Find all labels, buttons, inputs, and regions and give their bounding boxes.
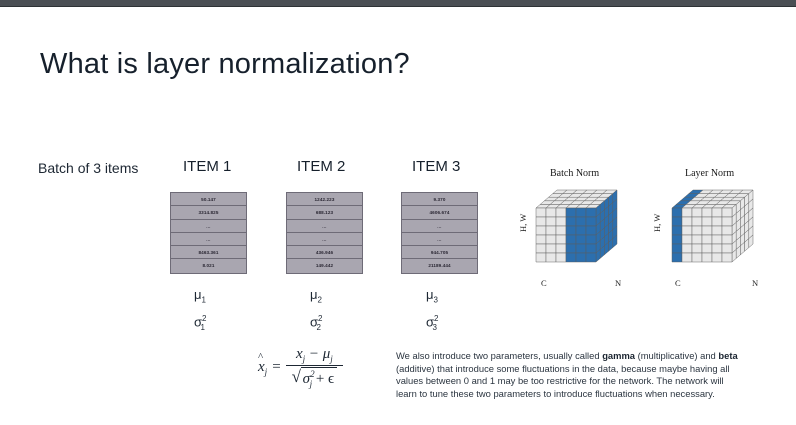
- formula-lhs: xj: [258, 359, 267, 377]
- item-cell: …: [171, 233, 246, 246]
- explanation-part-3: (additive) that introduce some fluctuati…: [396, 363, 730, 399]
- item-cell: 688.123: [287, 206, 362, 219]
- norm-comparison-diagram: Batch Norm Layer Norm H, W H, W C N C N: [512, 168, 778, 290]
- item-cell: 944.705: [402, 246, 477, 259]
- mu-symbol: μ: [310, 287, 318, 302]
- sigma-subscript: 1: [200, 323, 204, 332]
- item-cell: …: [287, 233, 362, 246]
- sigma-superscript: 2: [202, 314, 206, 323]
- mu-symbol: μ: [194, 287, 202, 302]
- explanation-bold-beta: beta: [718, 350, 737, 361]
- item-table-1: 50.147 3314.825 … … 8463.361 8.021: [170, 192, 247, 274]
- numerator-x-sub: j: [303, 354, 306, 364]
- numerator-mu-sub: j: [330, 354, 333, 364]
- formula-equals: =: [272, 359, 280, 376]
- mu-subscript: 3: [434, 296, 438, 305]
- radical-sign: √: [292, 368, 301, 385]
- item-cell: …: [402, 233, 477, 246]
- sigma-superscript: 2: [318, 314, 322, 323]
- batch-label: Batch of 3 items: [38, 160, 138, 176]
- formula-fraction: xj − μj √ σ2j + ϵ: [286, 346, 343, 390]
- explanation-bold-gamma: gamma: [602, 350, 635, 361]
- mu-subscript: 1: [202, 296, 206, 305]
- formula-denominator: √ σ2j + ϵ: [286, 366, 343, 389]
- item-cell: 8.021: [171, 259, 246, 272]
- item-cell: 21189.444: [402, 259, 477, 272]
- item-cell: 436.946: [287, 246, 362, 259]
- page-title: What is layer normalization?: [40, 48, 410, 81]
- radical-body: σ2j + ϵ: [301, 367, 337, 389]
- item-cell: 50.147: [171, 193, 246, 206]
- explanation-paragraph: We also introduce two parameters, usuall…: [396, 350, 746, 400]
- x-hat-symbol: x: [258, 359, 265, 375]
- item-header-3: ITEM 3: [412, 158, 460, 175]
- den-plus: +: [316, 371, 324, 387]
- window-top-bar: [0, 0, 796, 7]
- mu-symbol: μ: [426, 287, 434, 302]
- item-table-2: 1242.223 688.123 … … 436.946 149.442: [286, 192, 363, 274]
- item-cell: …: [402, 220, 477, 233]
- explanation-part-2: (multiplicative) and: [635, 350, 718, 361]
- item-header-1: ITEM 1: [183, 158, 231, 175]
- norm-cubes-svg: [512, 168, 778, 290]
- item-stats-3: μ3 σ23: [426, 286, 438, 337]
- sigma-superscript: 2: [434, 314, 438, 323]
- den-sigma-sup: 2: [310, 369, 315, 379]
- den-sigma-sub: j: [310, 379, 313, 389]
- item-cell: 1242.223: [287, 193, 362, 206]
- item-cell: …: [171, 220, 246, 233]
- explanation-part-1: We also introduce two parameters, usuall…: [396, 350, 602, 361]
- item-stats-1: μ1 σ21: [194, 286, 206, 337]
- formula-lhs-subscript: j: [265, 367, 268, 377]
- item-table-3: 9.370 4606.674 … … 944.705 21189.444: [401, 192, 478, 274]
- item-cell: 4606.674: [402, 206, 477, 219]
- formula-numerator: xj − μj: [290, 346, 339, 365]
- normalization-formula: xj = xj − μj √ σ2j + ϵ: [258, 346, 343, 390]
- den-epsilon: ϵ: [328, 371, 334, 387]
- item-header-2: ITEM 2: [297, 158, 345, 175]
- item-cell: …: [287, 220, 362, 233]
- den-sigma: σ: [303, 371, 310, 387]
- item-cell: 9.370: [402, 193, 477, 206]
- item-cell: 149.442: [287, 259, 362, 272]
- item-stats-2: μ2 σ22: [310, 286, 322, 337]
- sigma-subscript: 2: [316, 323, 320, 332]
- item-cell: 8463.361: [171, 246, 246, 259]
- slide-canvas: What is layer normalization? Batch of 3 …: [0, 0, 796, 425]
- mu-subscript: 2: [318, 296, 322, 305]
- sigma-subscript: 3: [432, 323, 436, 332]
- item-cell: 3314.825: [171, 206, 246, 219]
- numerator-x: x: [296, 346, 303, 362]
- square-root: √ σ2j + ϵ: [292, 367, 337, 389]
- numerator-minus: −: [309, 346, 319, 362]
